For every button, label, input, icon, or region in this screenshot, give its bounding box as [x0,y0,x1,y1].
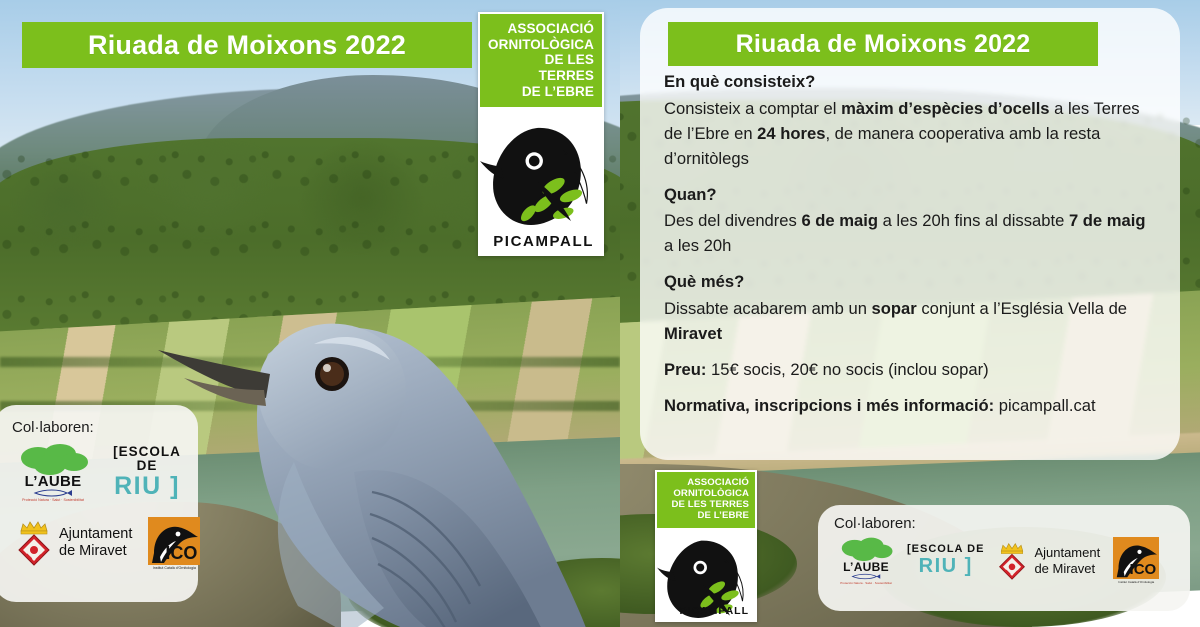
info-text: En què consisteix?Consisteix a comptar e… [664,70,1156,419]
poster-root: Riuada de Moixons 2022 ASSOCIACIÓ ORNITO… [0,0,1200,627]
ico-label: ICO [165,543,197,564]
laube-fish-icon [33,489,73,497]
ajuntament-line-1: Ajuntament [59,526,132,543]
ajuntament-line-2: de Miravet [1034,561,1100,577]
laube-tree-icon [838,536,894,562]
picampall-logo-heading: ASSOCIACIÓ ORNITOLÒGICA DE LES TERRES DE… [480,14,602,107]
right-panel: En què consisteix?Consisteix a comptar e… [620,0,1200,627]
picampall-line-3: DE LES TERRES [488,52,594,83]
ico-icon: ICO [1113,537,1159,579]
picampall-line-1: ASSOCIACIÓ [488,21,594,37]
collaborator-logo-grid: L’AUBE Protecció Natura · Salut · Sosten… [12,442,188,570]
picampall-line-2: ORNITOLÒGICA [488,37,594,53]
info-heading: Quan? [664,183,1156,208]
picampall-logo-small: ASSOCIACIÓ ORNITOLÒGICA DE LES TERRES DE… [655,470,757,622]
miravet-coat-of-arms-icon [16,520,52,566]
collaborators-label: Col·laboren: [834,515,1178,532]
ico-tagline: Institut Català d’Ornitologia [148,567,200,571]
ajuntament-de-miravet-logo: Ajuntament de Miravet [997,542,1100,580]
laube-logo: L’AUBE Protecció Natura · Salut · Sosten… [16,442,90,503]
info-paragraph: Consisteix a comptar el màxim d’espècies… [664,97,1156,172]
ajuntament-de-miravet-logo: Ajuntament de Miravet [16,520,132,566]
collaborator-row: Ajuntament de Miravet ICO [16,517,188,571]
collaborators-card-left: Col·laboren: L’AUBE [0,405,198,602]
escola-de-riu-logo: [ESCOLA DE RIU ] [907,544,984,577]
picampall-bird-icon [480,107,602,254]
collaborators-label: Col·laboren: [12,419,188,436]
picampall-line-2: ORNITOLÒGICA [663,488,749,499]
laube-tagline: Protecció Natura · Salut · Sostenibilita… [16,499,90,503]
ico-logo: ICO Institut Català d’Ornitologia [148,517,200,571]
ico-icon: ICO [148,517,200,565]
picampall-logo-heading: ASSOCIACIÓ ORNITOLÒGICA DE LES TERRES DE… [657,472,755,528]
info-paragraph: Des del divendres 6 de maig a les 20h fi… [664,209,1156,259]
page-title-left: Riuada de Moixons 2022 [22,22,472,68]
info-paragraph: Normativa, inscripcions i més informació… [664,394,1156,419]
laube-wordmark: L’AUBE [838,561,894,573]
ico-logo: ICO Institut Català d’Ornitologia [1113,537,1159,584]
escola-de-riu-logo: [ESCOLA DE RIU ] [106,445,188,500]
page-title-right: Riuada de Moixons 2022 [668,22,1098,66]
picampall-line-4: DE L’EBRE [663,510,749,521]
miravet-coat-of-arms-icon [997,542,1027,580]
info-paragraph: Dissabte acabarem amb un sopar conjunt a… [664,297,1156,347]
collaborators-card-bottom: Col·laboren: L’AUBE [818,505,1190,611]
laube-logo: L’AUBE Protecció Natura · Salut · Sosten… [838,536,894,585]
escola-line-1: [ESCOLA DE [106,445,188,473]
info-heading: Què més? [664,270,1156,295]
picampall-line-4: DE L’EBRE [488,84,594,100]
ajuntament-name: Ajuntament de Miravet [59,526,132,561]
info-heading: En què consisteix? [664,70,1156,95]
info-card: En què consisteix?Consisteix a comptar e… [640,8,1180,460]
laube-tagline: Protecció Natura · Salut · Sostenibilita… [838,582,894,585]
picampall-logo: ASSOCIACIÓ ORNITOLÒGICA DE LES TERRES DE… [478,12,604,256]
ajuntament-name: Ajuntament de Miravet [1034,545,1100,576]
laube-fish-icon [851,573,881,580]
laube-tree-icon [16,442,90,476]
escola-line-2: RIU ] [106,473,188,499]
picampall-line-1: ASSOCIACIÓ [663,477,749,488]
picampall-line-3: DE LES TERRES [663,499,749,510]
collaborator-logo-row: L’AUBE Protecció Natura · Salut · Sosten… [834,536,1178,585]
ico-label: ICO [1130,561,1157,578]
picampall-wordmark: PICAMPALL [680,605,749,617]
ajuntament-line-1: Ajuntament [1034,545,1100,561]
info-paragraph: Preu: 15€ socis, 20€ no socis (inclou so… [664,358,1156,383]
collaborator-row: L’AUBE Protecció Natura · Salut · Sosten… [16,442,188,503]
laube-wordmark: L’AUBE [16,474,90,489]
left-panel: Riuada de Moixons 2022 ASSOCIACIÓ ORNITO… [0,0,620,627]
escola-line-2: RIU ] [907,556,984,577]
picampall-wordmark: PICAMPALL [493,233,594,250]
ajuntament-line-2: de Miravet [59,543,132,560]
ico-tagline: Institut Català d’Ornitologia [1113,581,1159,584]
